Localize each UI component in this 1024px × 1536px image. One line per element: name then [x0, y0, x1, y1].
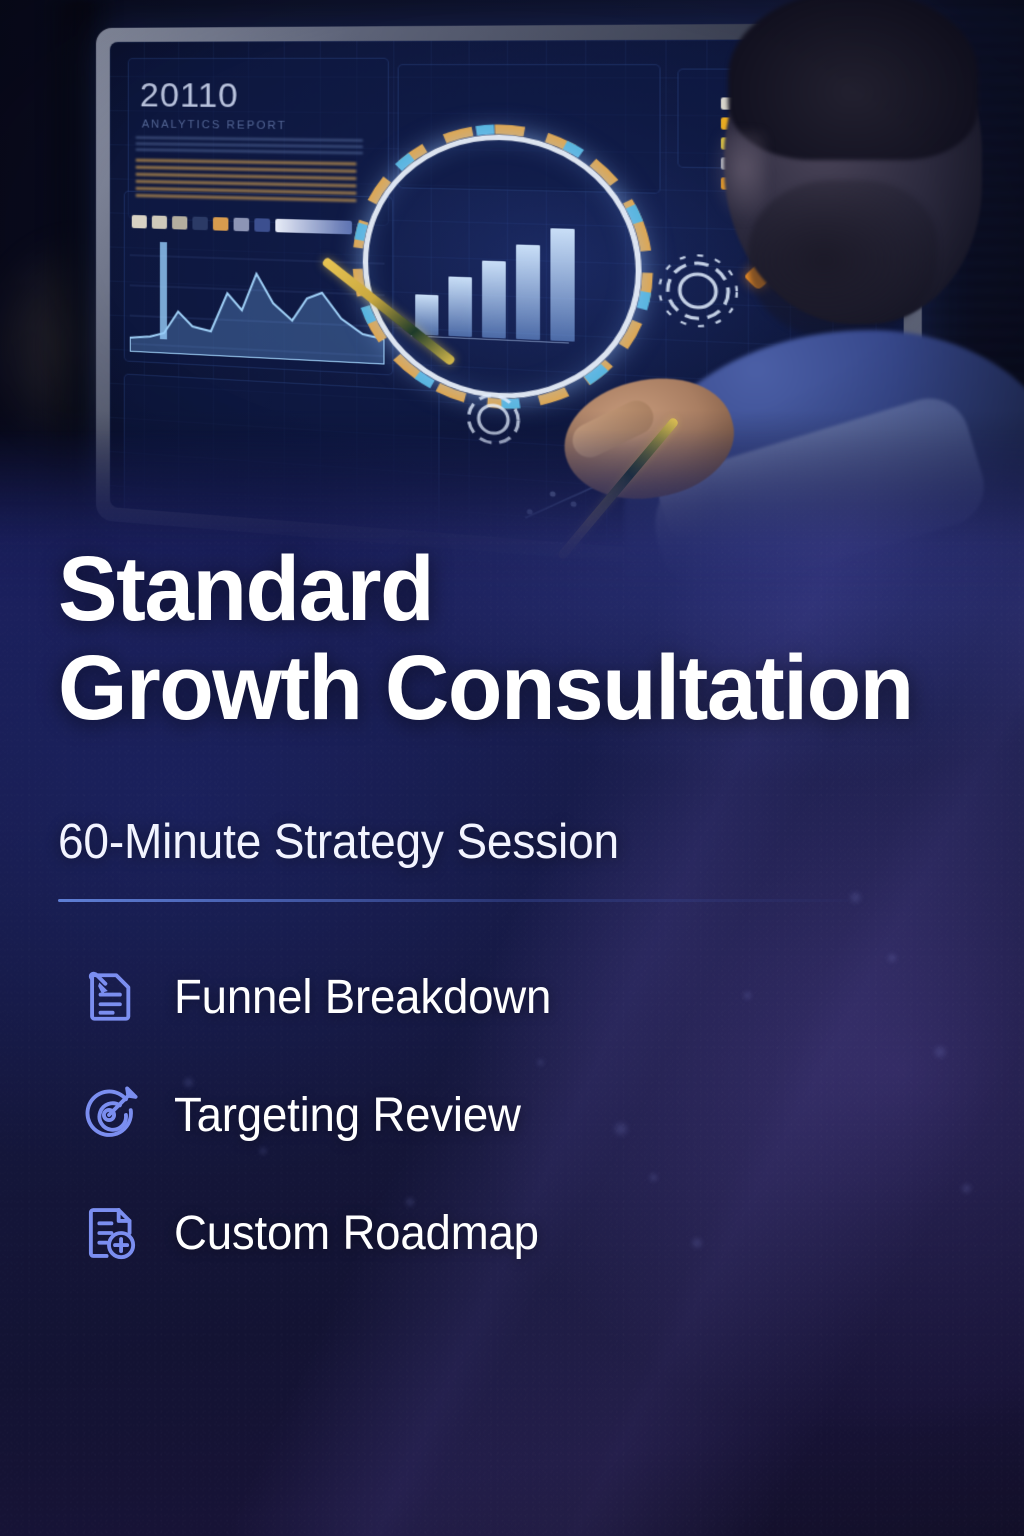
list-item-label: Targeting Review — [174, 1088, 521, 1143]
page-subtitle: 60-Minute Strategy Session — [58, 814, 619, 870]
list-item-label: Custom Roadmap — [174, 1206, 539, 1261]
list-item: Custom Roadmap — [76, 1174, 776, 1292]
list-item: Targeting Review — [76, 1056, 776, 1174]
target-arrow-icon — [76, 1082, 142, 1148]
title-line-2: Growth Consultation — [58, 639, 980, 738]
page-title: Standard Growth Consultation — [58, 540, 980, 739]
section-divider — [58, 899, 848, 902]
feature-list: Funnel Breakdown Targeting Review — [76, 938, 776, 1292]
poster-root: 20110 ANALYTICS REPORT — [0, 0, 1024, 1536]
document-cursor-icon — [76, 964, 142, 1030]
document-plus-icon — [76, 1200, 142, 1266]
poster-content: Standard Growth Consultation 60-Minute S… — [0, 0, 1024, 1536]
list-item: Funnel Breakdown — [76, 938, 776, 1056]
list-item-label: Funnel Breakdown — [174, 970, 551, 1025]
title-line-1: Standard — [58, 540, 980, 639]
